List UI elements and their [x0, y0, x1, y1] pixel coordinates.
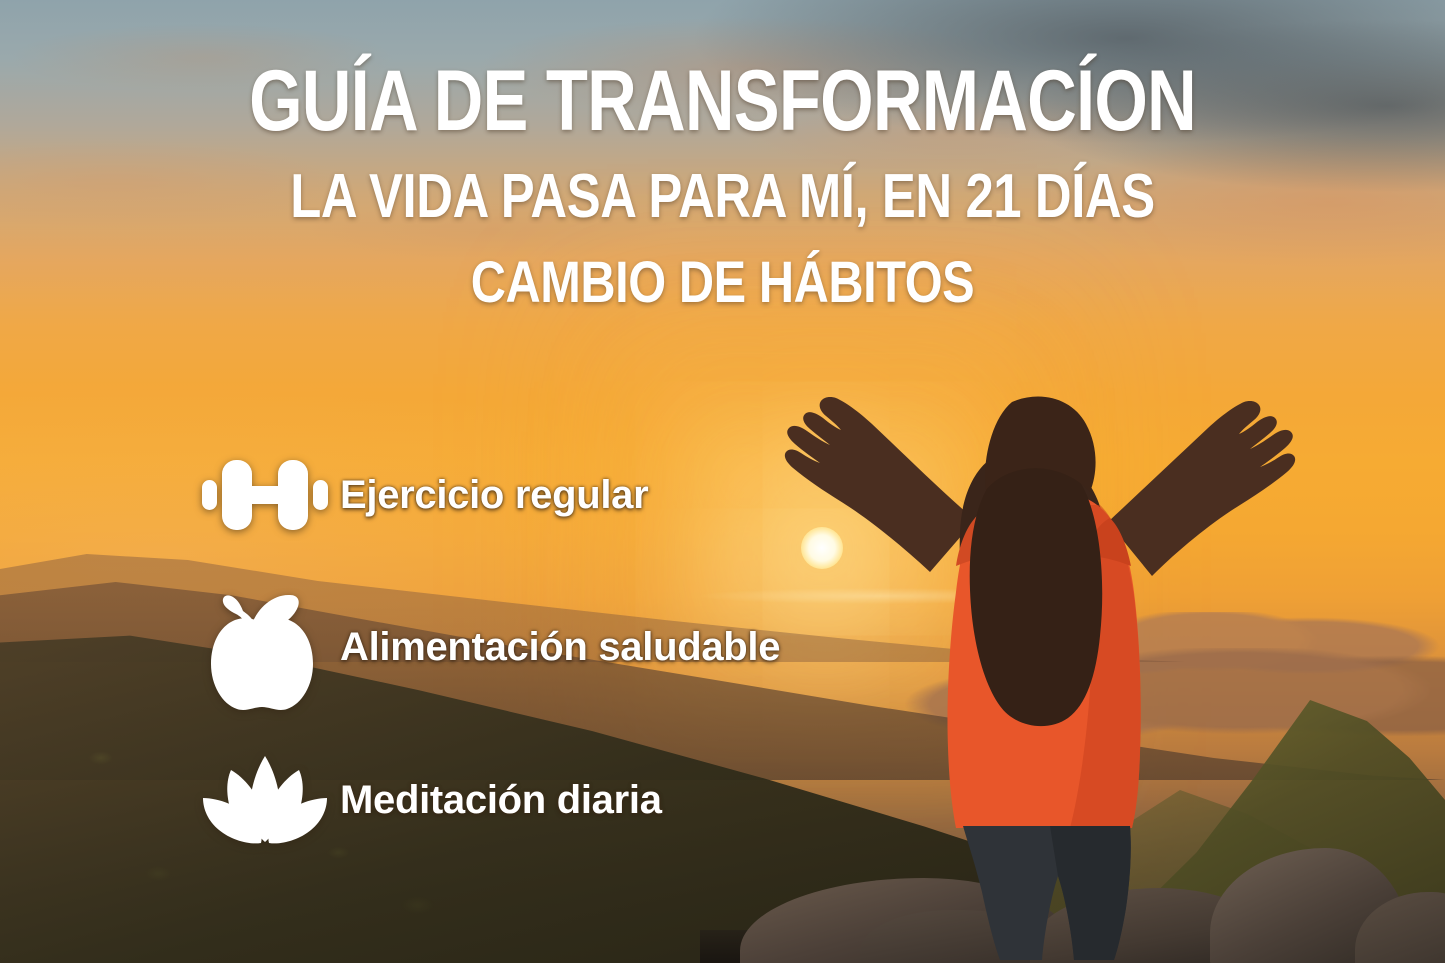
poster-third-line: CAMBIO DE HÁBITOS — [116, 254, 1330, 312]
apple-icon — [190, 585, 340, 710]
list-item-label: Meditación diaria — [340, 778, 662, 823]
poster: GUÍA DE TRANSFORMACÍON LA VIDA PASA PARA… — [0, 0, 1445, 963]
list-item-label: Ejercicio regular — [340, 473, 648, 518]
dumbbell-icon — [190, 458, 340, 532]
benefits-list: Ejercicio regular Alimentación saludable — [190, 440, 830, 855]
list-item-label: Alimentación saludable — [340, 625, 780, 670]
poster-subtitle: LA VIDA PASA PARA MÍ, EN 21 DÍAS — [130, 166, 1315, 228]
poster-title: GUÍA DE TRANSFORMACÍON — [145, 58, 1301, 144]
list-item: Alimentación saludable — [190, 550, 830, 745]
headings-block: GUÍA DE TRANSFORMACÍON LA VIDA PASA PARA… — [0, 58, 1445, 312]
list-item: Meditación diaria — [190, 745, 830, 855]
lotus-icon — [190, 754, 340, 846]
list-item: Ejercicio regular — [190, 440, 830, 550]
